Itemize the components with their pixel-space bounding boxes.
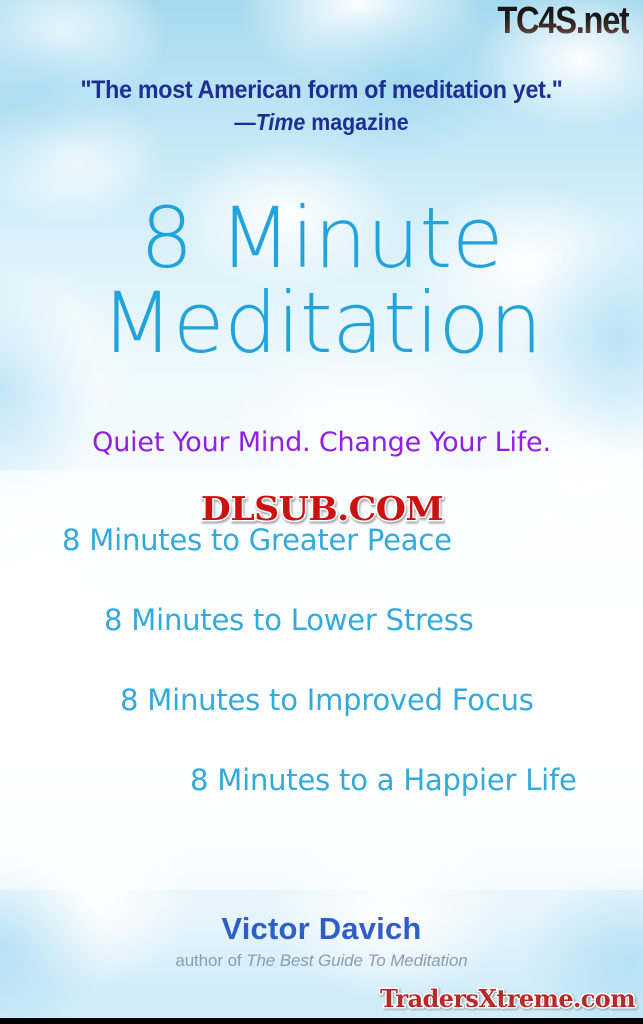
book-subtitle: Quiet Your Mind. Change Your Life. [0, 427, 643, 458]
benefit-line: 8 Minutes to Greater Peace [62, 526, 643, 555]
watermark-tradersxtreme: TradersXtreme.com [380, 984, 635, 1013]
author-credit-work: The Best Guide To Meditation [246, 951, 467, 970]
benefits-list: 8 Minutes to Greater Peace 8 Minutes to … [0, 526, 643, 795]
author-credit: author of The Best Guide To Meditation [0, 951, 643, 971]
title-line-1: 8 Minute [0, 198, 643, 279]
author-credit-prefix: author of [175, 951, 246, 970]
title-line-2: Meditation [0, 283, 643, 364]
benefit-line: 8 Minutes to Lower Stress [104, 606, 643, 635]
benefit-line: 8 Minutes to Improved Focus [120, 686, 643, 715]
attribution-source: Time [256, 109, 306, 135]
review-quote-text: "The most American form of meditation ye… [23, 76, 621, 106]
benefit-line: 8 Minutes to a Happier Life [190, 766, 643, 795]
review-quote-block: "The most American form of meditation ye… [0, 76, 643, 136]
review-attribution: —Time magazine [23, 109, 621, 136]
bottom-black-bar [0, 1018, 643, 1024]
book-title: 8 Minute Meditation [0, 198, 643, 365]
attribution-suffix: magazine [305, 109, 408, 135]
watermark-tc4s: TC4S.net [498, 2, 629, 42]
book-cover: TC4S.net "The most American form of medi… [0, 0, 643, 1024]
author-block: Victor Davich author of The Best Guide T… [0, 912, 643, 971]
author-name: Victor Davich [0, 912, 643, 946]
attribution-dash: — [234, 109, 255, 135]
